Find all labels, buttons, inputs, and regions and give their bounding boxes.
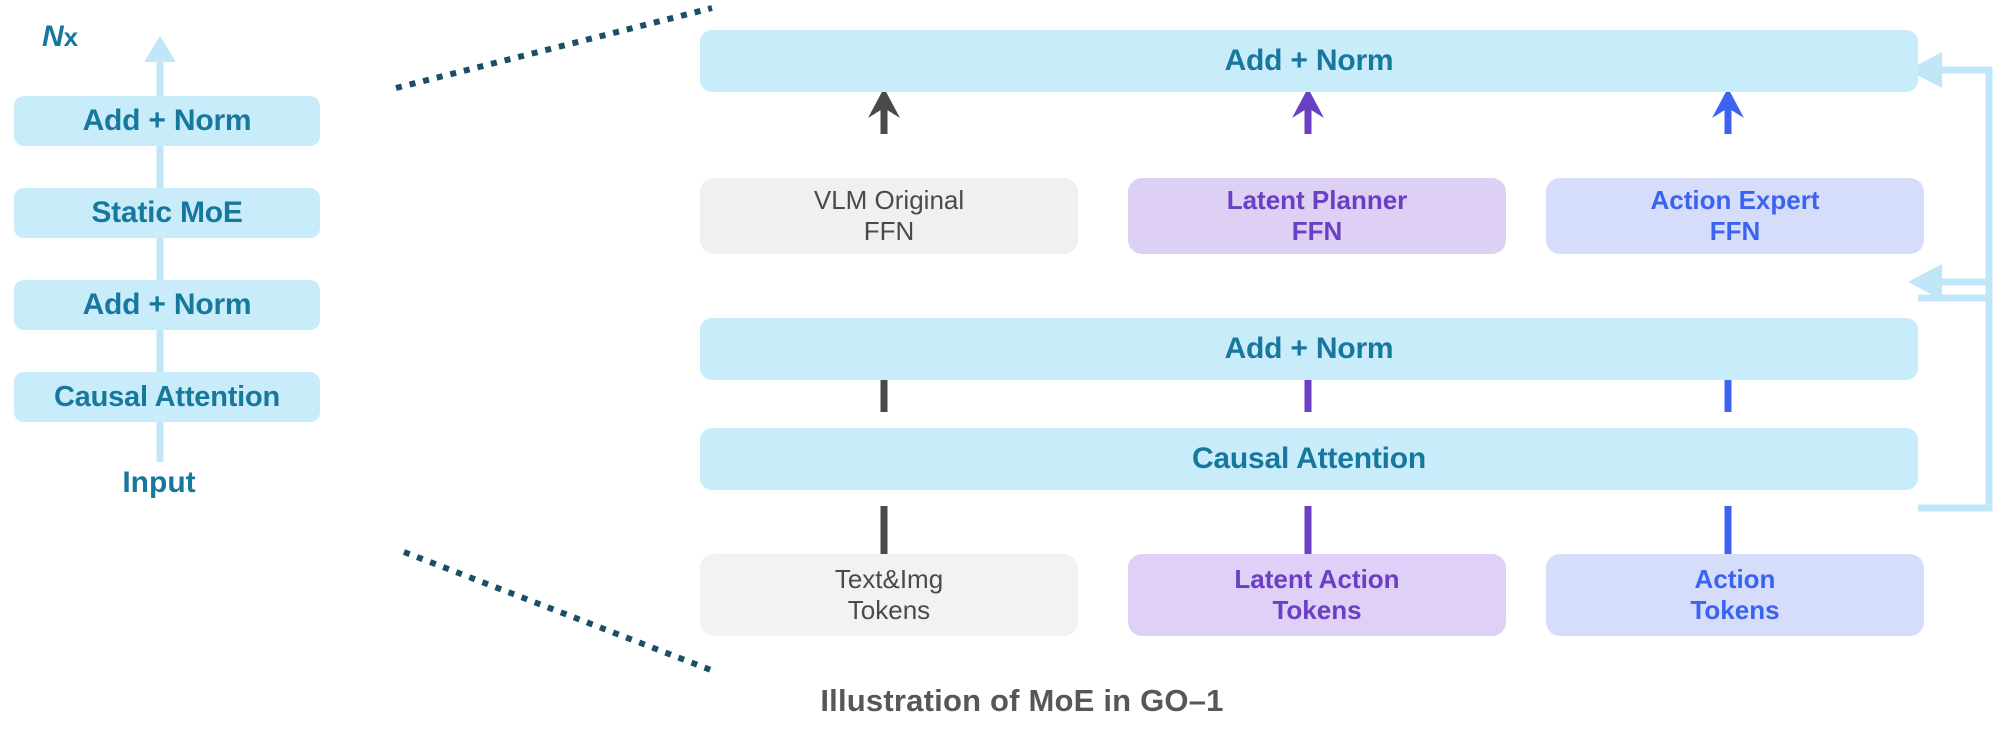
expert-line2: FFN bbox=[864, 216, 915, 246]
token-line2: Tokens bbox=[1272, 595, 1361, 625]
left-block-label: Add + Norm bbox=[83, 287, 252, 322]
right-bar-add-norm-top[interactable]: Add + Norm bbox=[700, 30, 1918, 92]
expert-box-latent-planner-ffn[interactable]: Latent PlannerFFN bbox=[1128, 178, 1506, 254]
expert-box-label: VLM OriginalFFN bbox=[814, 185, 964, 246]
right-bar-label: Add + Norm bbox=[1225, 43, 1394, 78]
expert-box-label: Latent PlannerFFN bbox=[1227, 185, 1408, 246]
left-block-static-moe[interactable]: Static MoE bbox=[14, 188, 320, 238]
diagram-canvas: Nx Add + Norm Static MoE Add + Norm Caus… bbox=[0, 0, 2014, 748]
left-block-add-norm-bottom[interactable]: Add + Norm bbox=[14, 280, 320, 330]
residual-arrow-lower-head bbox=[1908, 264, 1942, 300]
token-box-text-img-tokens[interactable]: Text&ImgTokens bbox=[700, 554, 1078, 636]
input-label: Input bbox=[104, 466, 214, 500]
token-line1: Text&Img bbox=[835, 564, 943, 594]
residual-connection-lower bbox=[1918, 282, 1989, 508]
token-box-label: Latent ActionTokens bbox=[1234, 564, 1399, 625]
right-bar-label: Causal Attention bbox=[1192, 441, 1426, 476]
token-box-label: ActionTokens bbox=[1690, 564, 1779, 625]
left-block-label: Causal Attention bbox=[54, 380, 280, 414]
left-block-label: Add + Norm bbox=[83, 103, 252, 138]
expert-line2: FFN bbox=[1710, 216, 1761, 246]
left-block-add-norm-top[interactable]: Add + Norm bbox=[14, 96, 320, 146]
repeat-count-x: x bbox=[64, 22, 78, 52]
right-bar-label: Add + Norm bbox=[1225, 331, 1394, 366]
right-bar-add-norm-middle[interactable]: Add + Norm bbox=[700, 318, 1918, 380]
residual-connection-upper bbox=[1918, 70, 1989, 298]
token-line2: Tokens bbox=[848, 595, 930, 625]
token-line2: Tokens bbox=[1690, 595, 1779, 625]
expert-line1: Latent Planner bbox=[1227, 185, 1408, 215]
expert-box-action-expert-ffn[interactable]: Action ExpertFFN bbox=[1546, 178, 1924, 254]
expert-line2: FFN bbox=[1292, 216, 1343, 246]
left-block-label: Static MoE bbox=[91, 195, 242, 230]
right-bar-causal-attention[interactable]: Causal Attention bbox=[700, 428, 1918, 490]
expert-line1: VLM Original bbox=[814, 185, 964, 215]
figure-caption: Illustration of MoE in GO–1 bbox=[607, 683, 1437, 719]
expert-line1: Action Expert bbox=[1650, 185, 1819, 215]
token-box-latent-action-tokens[interactable]: Latent ActionTokens bbox=[1128, 554, 1506, 636]
token-box-label: Text&ImgTokens bbox=[835, 564, 943, 625]
expert-box-label: Action ExpertFFN bbox=[1650, 185, 1819, 246]
expert-box-vlm-original-ffn[interactable]: VLM OriginalFFN bbox=[700, 178, 1078, 254]
repeat-count-label: Nx bbox=[42, 20, 78, 54]
token-line1: Latent Action bbox=[1234, 564, 1399, 594]
token-box-action-tokens[interactable]: ActionTokens bbox=[1546, 554, 1924, 636]
repeat-count-n: N bbox=[42, 20, 64, 53]
zoom-connector-dotted-lines bbox=[396, 8, 716, 672]
token-line1: Action bbox=[1695, 564, 1776, 594]
left-block-causal-attention[interactable]: Causal Attention bbox=[14, 372, 320, 422]
